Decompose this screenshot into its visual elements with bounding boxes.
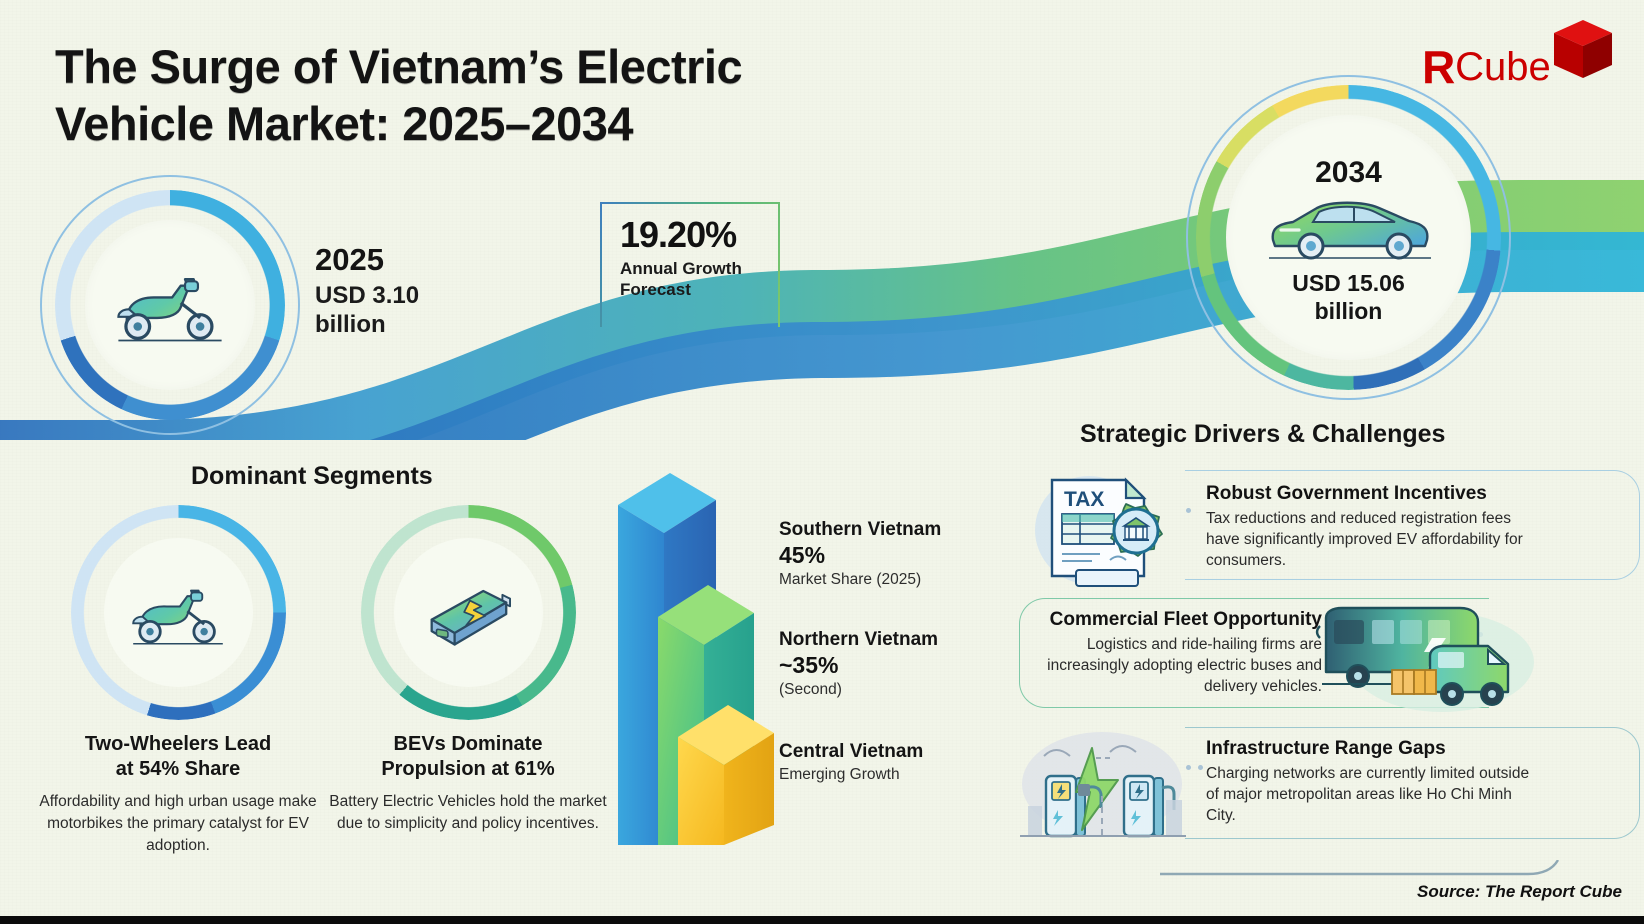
bar-label-name: Southern Vietnam [779,518,941,542]
infographic-page: The Surge of Vietnam’s Electric Vehicle … [0,0,1644,924]
bar-label-value: ~35% [779,652,938,680]
tax-document-icon-svg: TAX [1014,458,1189,588]
bar-label-northern: Northern Vietnam ~35% (Second) [779,628,938,700]
bottom-bar [0,916,1644,924]
charging-station-icon [1014,718,1192,843]
logo-mark-r: Я [1422,40,1455,94]
battery-icon [410,570,526,656]
milestone-donut-2034: 2034 USD 15.06 billion [1196,85,1501,390]
dominant-segments-title: Dominant Segments [191,462,433,491]
growth-value: 19.20% [620,214,778,256]
segment-card-bev: BEVs Dominate Propulsion at 61% Battery … [318,505,618,835]
driver-description: Tax reductions and reduced registration … [1206,509,1536,572]
car-icon [1259,192,1439,264]
segment-heading-line2: at 54% Share [28,757,328,782]
svg-text:TAX: TAX [1064,488,1104,511]
milestone-text-2025: 2025 USD 3.10 billion [315,243,419,340]
strategic-drivers-title: Strategic Drivers & Challenges [1080,420,1445,449]
driver-heading: Infrastructure Range Gaps [1206,737,1536,762]
milestone-year: 2034 [1315,156,1382,190]
bar-label-note: Market Share (2025) [779,570,941,590]
bar-label-central: Central Vietnam Emerging Growth [779,740,923,785]
driver-heading: Robust Government Incentives [1206,482,1536,507]
milestone-value-line1: USD 15.06 [1292,270,1405,298]
milestone-donut-2025 [55,190,285,420]
charging-station-icon-svg [1014,718,1192,843]
growth-forecast-box: 19.20% Annual Growth Forecast [600,202,780,327]
bar-label-note: (Second) [779,680,938,700]
segment-heading-line1: Two-Wheelers Lead [28,732,328,757]
bus-truck-icon [1312,600,1537,715]
segment-heading-line1: BEVs Dominate [318,732,618,757]
source-credit: Source: The Report Cube [1417,882,1622,902]
bar-label-value: 45% [779,542,941,570]
growth-label-line2: Forecast [620,279,778,300]
scooter-icon [122,575,234,651]
segment-description: Affordability and high urban usage make … [28,791,328,857]
donut-center [104,538,253,687]
logo-wordmark: ЯCube [1422,40,1592,94]
segment-card-two-wheelers: Two-Wheelers Lead at 54% Share Affordabi… [28,505,328,857]
source-underline [1160,860,1580,882]
segment-donut [361,505,576,720]
milestone-value-line2: billion [1292,298,1405,326]
donut-center [85,220,255,390]
milestone-value-line1: USD 3.10 [315,281,419,310]
milestone-value-line2: billion [315,310,419,339]
bar-label-southern: Southern Vietnam 45% Market Share (2025) [779,518,941,590]
bus-truck-icon-svg [1312,600,1537,715]
bar-label-name: Central Vietnam [779,740,923,764]
title-line-1: The Surge of Vietnam’s Electric [55,40,742,93]
donut-center: 2034 USD 15.06 billion [1226,115,1471,360]
logo-word: Cube [1455,45,1551,89]
tax-document-icon: TAX [1014,458,1189,588]
scooter-icon [105,262,235,348]
donut-center [394,538,543,687]
bar-label-note: Emerging Growth [779,765,923,785]
segment-donut [71,505,286,720]
milestone-year: 2025 [315,243,419,277]
segment-description: Battery Electric Vehicles hold the marke… [318,791,618,835]
driver-description: Charging networks are currently limited … [1206,764,1536,827]
segment-heading-line2: Propulsion at 61% [318,757,618,782]
growth-label-line1: Annual Growth [620,258,778,279]
driver-heading: Commercial Fleet Opportunity [1040,608,1322,633]
brand-logo[interactable]: ЯCube [1422,12,1622,107]
driver-description: Logistics and ride-hailing firms are inc… [1040,635,1322,698]
bar-label-name: Northern Vietnam [779,628,938,652]
